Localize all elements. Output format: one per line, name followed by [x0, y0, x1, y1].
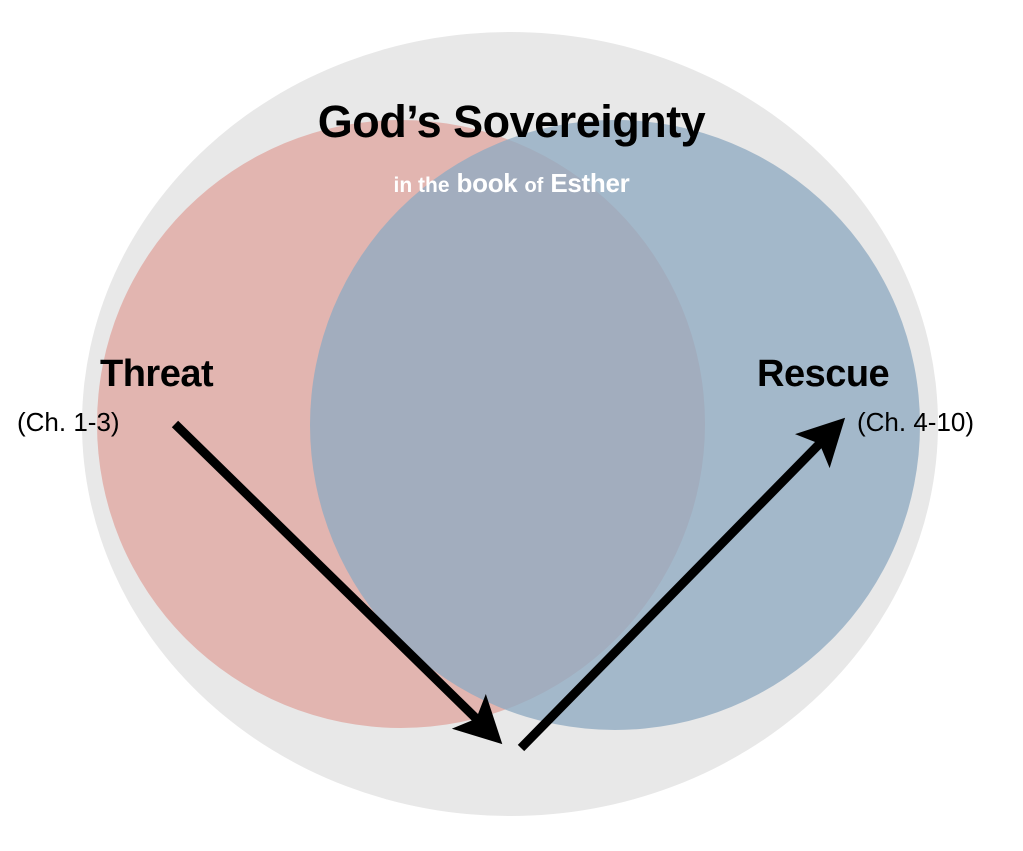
rescue-circle[interactable] — [310, 120, 920, 730]
venn-shapes — [0, 0, 1023, 851]
venn-diagram-canvas: God’s Sovereignty in thebookofEsther Thr… — [0, 0, 1023, 851]
